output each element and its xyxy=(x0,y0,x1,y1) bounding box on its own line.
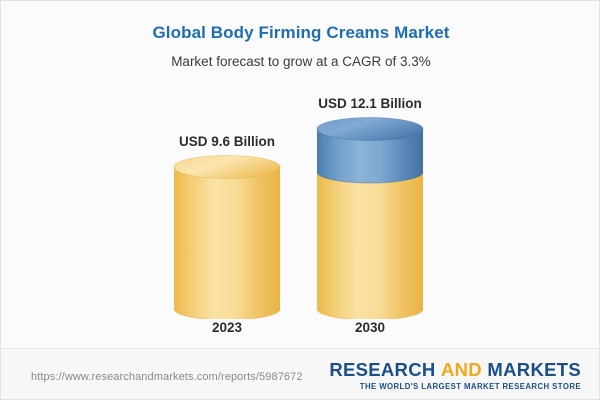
cylinder-bar-2030 xyxy=(316,81,424,319)
brand-logo[interactable]: RESEARCH AND MARKETS THE WORLD'S LARGEST… xyxy=(329,360,581,391)
bar-group-2030: USD 12.1 Billion xyxy=(290,81,450,346)
brand-tagline: THE WORLD'S LARGEST MARKET RESEARCH STOR… xyxy=(329,382,581,391)
category-label-2030: 2030 xyxy=(290,320,450,335)
cylinder-bar-2023 xyxy=(173,81,281,319)
footer: https://www.researchandmarkets.com/repor… xyxy=(1,349,599,399)
bar-group-2023: USD 9.6 Billion xyxy=(147,81,307,346)
category-label-2023: 2023 xyxy=(147,320,307,335)
brand-wordmark: RESEARCH AND MARKETS xyxy=(329,360,581,380)
brand-word-markets: MARKETS xyxy=(487,359,581,380)
brand-word-and: AND xyxy=(441,359,482,380)
plot-area: USD 9.6 Billion xyxy=(1,81,600,346)
chart-canvas: Global Body Firming Creams Market Market… xyxy=(0,0,600,400)
chart-subtitle: Market forecast to grow at a CAGR of 3.3… xyxy=(1,54,600,69)
page-title: Global Body Firming Creams Market xyxy=(1,23,600,43)
brand-word-research: RESEARCH xyxy=(329,359,435,380)
report-url-link[interactable]: https://www.researchandmarkets.com/repor… xyxy=(31,371,303,383)
